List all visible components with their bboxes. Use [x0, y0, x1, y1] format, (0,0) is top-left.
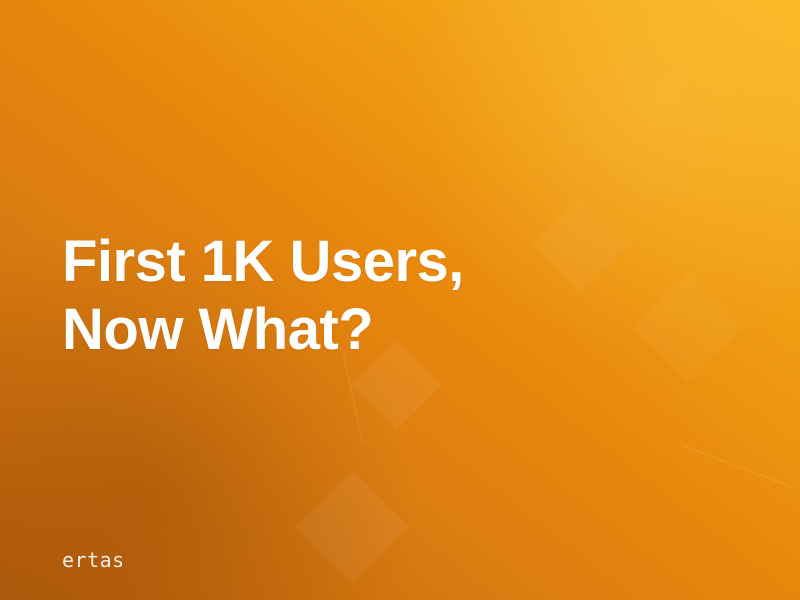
- diamond-upper-right-shape: [531, 196, 630, 295]
- diamond-mid-right-shape: [633, 272, 743, 382]
- presentation-slide: First 1K Users, Now What? ertas: [0, 0, 800, 600]
- slide-title: First 1K Users, Now What?: [62, 228, 464, 364]
- streak-lower-right-line: [681, 444, 794, 489]
- diamond-lower-center-shape: [295, 470, 408, 583]
- streak-center-line: [342, 352, 364, 444]
- brand-wordmark: ertas: [62, 548, 125, 572]
